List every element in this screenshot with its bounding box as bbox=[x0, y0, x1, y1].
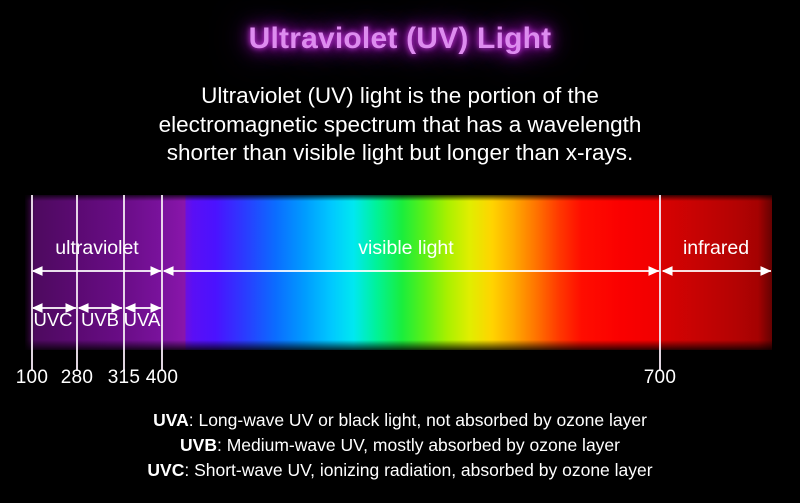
tick-label-700: 700 bbox=[644, 367, 677, 389]
subtitle-line-3: shorter than visible light but longer th… bbox=[50, 139, 750, 168]
tick-label-280: 280 bbox=[61, 367, 94, 389]
legend-term-uva: UVA bbox=[153, 410, 189, 430]
legend-block: UVA: Long-wave UV or black light, not ab… bbox=[0, 408, 800, 483]
legend-row-uvb: UVB: Medium-wave UV, mostly absorbed by … bbox=[0, 433, 800, 458]
subtitle-line-2: electromagnetic spectrum that has a wave… bbox=[50, 111, 750, 140]
band-label-uvc: UVC bbox=[33, 309, 72, 331]
tick-line-400 bbox=[161, 195, 163, 371]
tick-line-280 bbox=[76, 195, 78, 371]
tick-label-100: 100 bbox=[16, 367, 49, 389]
legend-term-uvc: UVC bbox=[147, 460, 184, 480]
spectrum-diagram: ultraviolet visible light infrared UVC U… bbox=[25, 195, 772, 350]
tick-line-700 bbox=[659, 195, 661, 371]
band-label-visible-light: visible light bbox=[358, 237, 453, 260]
legend-row-uvc: UVC: Short-wave UV, ionizing radiation, … bbox=[0, 458, 800, 483]
band-label-uvb: UVB bbox=[81, 309, 119, 331]
subtitle-paragraph: Ultraviolet (UV) light is the portion of… bbox=[50, 82, 750, 168]
legend-term-uvb: UVB bbox=[180, 435, 217, 455]
tick-label-315: 315 bbox=[108, 367, 141, 389]
tick-line-315 bbox=[123, 195, 125, 371]
legend-desc-uvc: : Short-wave UV, ionizing radiation, abs… bbox=[184, 460, 652, 480]
tick-line-100 bbox=[31, 195, 33, 371]
legend-desc-uva: : Long-wave UV or black light, not absor… bbox=[189, 410, 647, 430]
band-label-ultraviolet: ultraviolet bbox=[55, 237, 138, 260]
band-label-infrared: infrared bbox=[683, 237, 749, 260]
legend-desc-uvb: : Medium-wave UV, mostly absorbed by ozo… bbox=[217, 435, 620, 455]
page-title: Ultraviolet (UV) Light bbox=[0, 22, 800, 56]
bar-edge-fade-right bbox=[758, 195, 772, 350]
subtitle-line-1: Ultraviolet (UV) light is the portion of… bbox=[50, 82, 750, 111]
tick-label-400: 400 bbox=[146, 367, 179, 389]
legend-row-uva: UVA: Long-wave UV or black light, not ab… bbox=[0, 408, 800, 433]
band-label-uva: UVA bbox=[124, 309, 161, 331]
